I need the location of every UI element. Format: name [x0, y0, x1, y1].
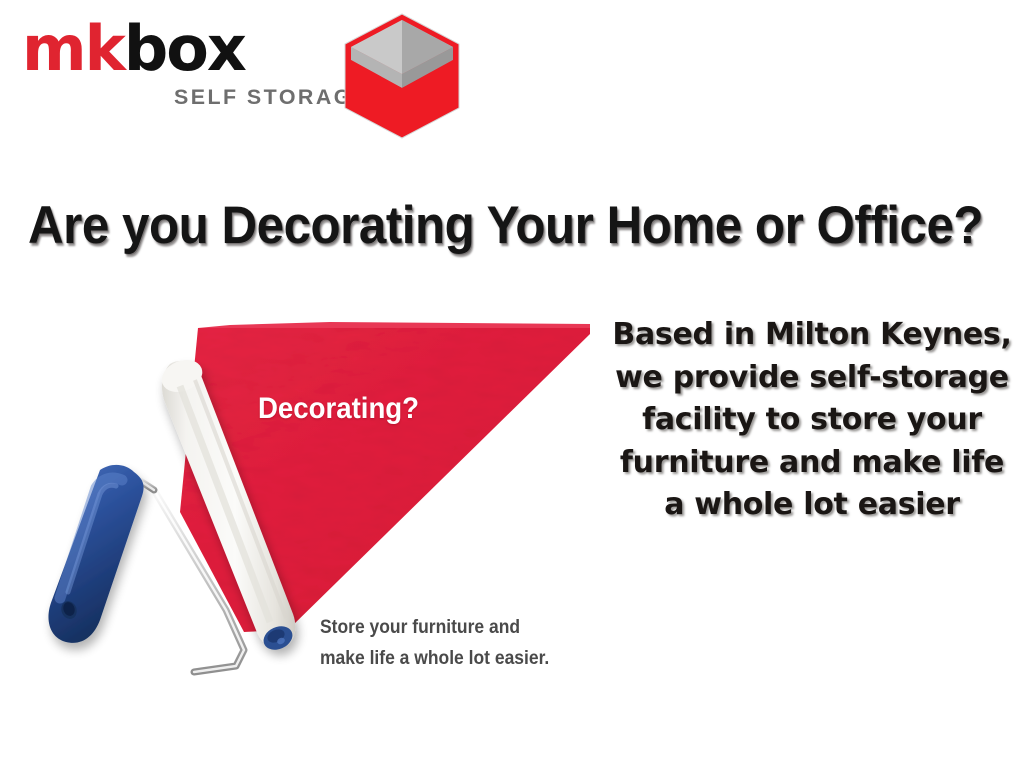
logo-wordmark: mkbox: [22, 18, 245, 80]
illustration-caption: Store your furniture and make life a who…: [320, 612, 549, 675]
illustration-caption-line-1: Store your furniture and: [320, 612, 549, 643]
brand-logo: mkbox SELF STORAGE: [22, 10, 472, 135]
body-copy: Based in Milton Keynes, we provide self-…: [612, 314, 1012, 527]
page-title: Are you Decorating Your Home or Office?: [28, 198, 939, 254]
open-box-cube-icon: [337, 12, 467, 142]
logo-text-box: box: [124, 12, 245, 85]
logo-text-mk: mk: [22, 12, 124, 85]
paint-roller-image: Decorating? Store your furniture and mak…: [30, 300, 590, 700]
illustration-overlay-label: Decorating?: [258, 392, 419, 426]
illustration-caption-line-2: make life a whole lot easier.: [320, 643, 549, 674]
